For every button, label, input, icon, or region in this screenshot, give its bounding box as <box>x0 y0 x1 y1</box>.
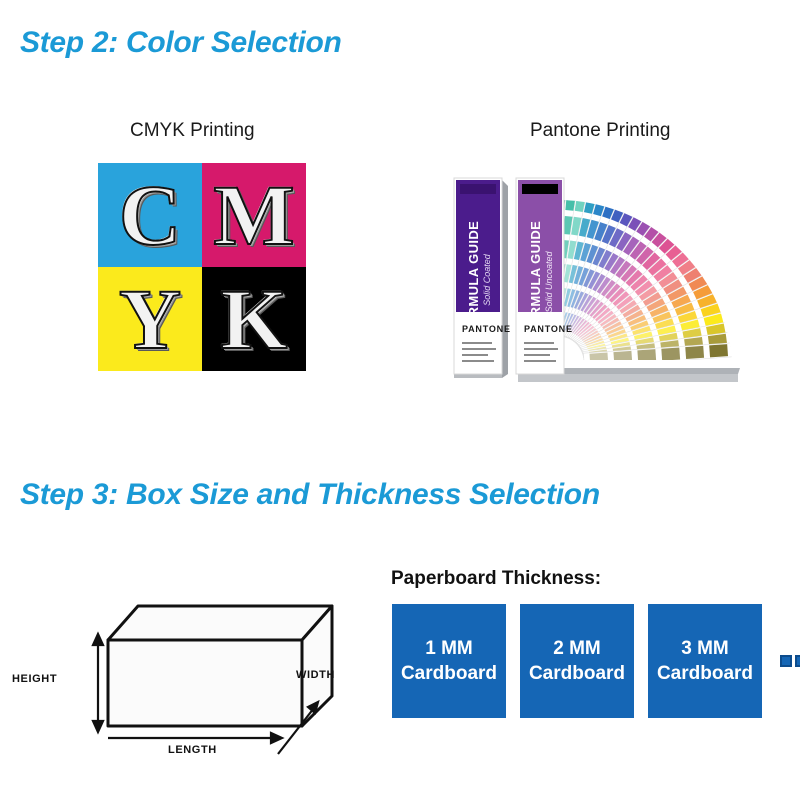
svg-text:PANTONE: PANTONE <box>462 324 511 334</box>
thickness-option-size: 1 MM <box>425 638 473 660</box>
step-2-heading: Step 2: Color Selection <box>20 26 342 60</box>
cmyk-cell-black: K <box>202 267 306 371</box>
cmyk-printing-label: CMYK Printing <box>130 120 255 142</box>
svg-text:Solid Coated: Solid Coated <box>482 253 492 306</box>
thickness-option-1mm[interactable]: 1 MM Cardboard <box>392 604 506 718</box>
cmyk-cell-yellow: Y <box>98 267 202 371</box>
paperboard-thickness-title: Paperboard Thickness: <box>391 568 601 590</box>
cmyk-cell-magenta: M <box>202 163 306 267</box>
ellipsis-square-icon <box>795 655 800 667</box>
box-label-length: LENGTH <box>168 744 217 756</box>
cmyk-letter-c: C <box>119 172 181 258</box>
thickness-option-material: Cardboard <box>401 663 497 685</box>
pantone-guide-solid-coated: FORMULA GUIDE Solid Coated PANTONE <box>454 178 511 374</box>
paperboard-thickness-options: 1 MM Cardboard 2 MM Cardboard 3 MM Cardb… <box>392 604 800 718</box>
thickness-option-2mm[interactable]: 2 MM Cardboard <box>520 604 634 718</box>
thickness-option-3mm[interactable]: 3 MM Cardboard <box>648 604 762 718</box>
ellipsis-square-icon <box>780 655 792 667</box>
cmyk-letter-m: M <box>213 172 294 258</box>
cmyk-letter-y: Y <box>119 276 181 362</box>
thickness-option-size: 2 MM <box>553 638 601 660</box>
cmyk-color-swatch-figure: C M Y K <box>98 163 306 371</box>
thickness-option-material: Cardboard <box>529 663 625 685</box>
svg-text:Solid Uncoated: Solid Uncoated <box>544 250 554 312</box>
cmyk-cell-cyan: C <box>98 163 202 267</box>
pantone-printing-label: Pantone Printing <box>530 120 671 142</box>
svg-text:FORMULA GUIDE: FORMULA GUIDE <box>466 221 481 336</box>
cmyk-letter-k: K <box>221 276 288 362</box>
box-label-width: WIDTH <box>296 669 335 681</box>
svg-text:FORMULA GUIDE: FORMULA GUIDE <box>528 221 543 336</box>
pantone-guide-solid-uncoated: FORMULA GUIDE Solid Uncoated PANTONE <box>516 178 573 374</box>
thickness-option-material: Cardboard <box>657 663 753 685</box>
thickness-option-size: 3 MM <box>681 638 729 660</box>
pantone-fan-swatches <box>545 184 736 367</box>
thickness-more-indicator[interactable] <box>780 655 800 667</box>
box-label-height: HEIGHT <box>12 673 57 685</box>
step-3-heading: Step 3: Box Size and Thickness Selection <box>20 478 600 512</box>
svg-text:PANTONE: PANTONE <box>524 324 573 334</box>
box-shape <box>108 606 332 726</box>
pantone-fan-deck-figure: FORMULA GUIDE Solid Coated PANTONE FORMU… <box>440 160 750 390</box>
